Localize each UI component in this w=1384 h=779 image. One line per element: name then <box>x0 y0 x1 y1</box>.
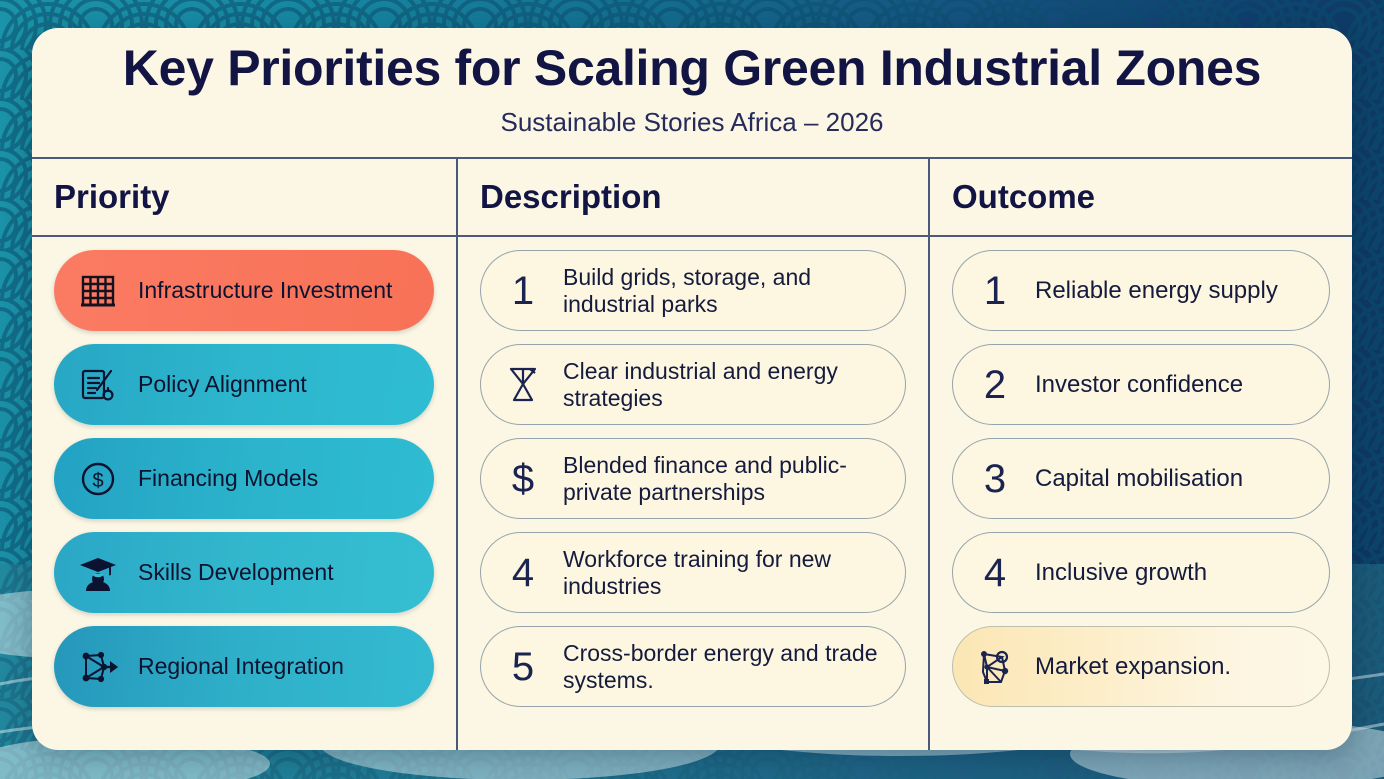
description-marker: 1 <box>497 271 549 311</box>
outcome-item-2[interactable]: 2 Investor confidence <box>952 344 1330 425</box>
outcome-item-5[interactable]: Market expansion. <box>952 626 1330 707</box>
priority-pill-financing-models[interactable]: $ Financing Models <box>54 438 434 519</box>
dollar-glyph-icon: $ <box>497 456 549 502</box>
graduate-icon <box>72 547 124 599</box>
priority-pill-skills-development[interactable]: Skills Development <box>54 532 434 613</box>
outcome-list: 1 Reliable energy supply 2 Investor conf… <box>930 237 1352 750</box>
outcome-marker: 1 <box>969 271 1021 311</box>
column-title-priority: Priority <box>32 159 456 235</box>
outcome-text: Investor confidence <box>1035 371 1243 398</box>
column-description: 1 Build grids, storage, and industrial p… <box>458 237 928 750</box>
column-outcome: 1 Reliable energy supply 2 Investor conf… <box>930 237 1352 750</box>
description-marker: 4 <box>497 553 549 593</box>
outcome-text: Inclusive growth <box>1035 559 1207 586</box>
description-text: Blended finance and public-private partn… <box>563 452 889 504</box>
page-subtitle: Sustainable Stories Africa – 2026 <box>32 107 1352 138</box>
priority-label: Skills Development <box>138 560 334 586</box>
description-list: 1 Build grids, storage, and industrial p… <box>458 237 928 750</box>
outcome-item-4[interactable]: 4 Inclusive growth <box>952 532 1330 613</box>
description-text: Workforce training for new industries <box>563 546 889 598</box>
card-header: Key Priorities for Scaling Green Industr… <box>32 28 1352 157</box>
hourglass-glyph-icon <box>497 364 549 406</box>
description-text: Build grids, storage, and industrial par… <box>563 264 889 316</box>
network-arrow-icon <box>72 641 124 693</box>
description-item-1[interactable]: 1 Build grids, storage, and industrial p… <box>480 250 906 331</box>
dollar-coin-icon: $ <box>72 453 124 505</box>
description-text: Cross-border energy and trade systems. <box>563 640 889 692</box>
network-glyph-icon <box>969 645 1021 689</box>
outcome-text: Market expansion. <box>1035 653 1231 680</box>
column-header-outcome: Outcome <box>930 159 1352 235</box>
grid-building-icon <box>72 265 124 317</box>
description-marker: 5 <box>497 647 549 687</box>
priority-pill-infrastructure-investment[interactable]: Infrastructure Investment <box>54 250 434 331</box>
column-priority: Infrastructure Investment <box>32 237 456 750</box>
priority-label: Financing Models <box>138 466 318 492</box>
description-item-4[interactable]: 4 Workforce training for new industries <box>480 532 906 613</box>
outcome-text: Reliable energy supply <box>1035 277 1278 304</box>
description-text: Clear industrial and energy strategies <box>563 358 889 410</box>
svg-text:$: $ <box>512 457 534 501</box>
outcome-item-1[interactable]: 1 Reliable energy supply <box>952 250 1330 331</box>
priority-pill-policy-alignment[interactable]: Policy Alignment <box>54 344 434 425</box>
table-body: Infrastructure Investment <box>32 237 1352 750</box>
column-header-priority: Priority <box>32 159 456 235</box>
description-item-2[interactable]: Clear industrial and energy strategies <box>480 344 906 425</box>
infographic-stage: Key Priorities for Scaling Green Industr… <box>0 0 1384 779</box>
outcome-text: Capital mobilisation <box>1035 465 1243 492</box>
outcome-marker: 3 <box>969 459 1021 499</box>
outcome-marker: 2 <box>969 365 1021 405</box>
priority-list: Infrastructure Investment <box>32 237 456 750</box>
clipboard-pen-icon <box>72 359 124 411</box>
priority-label: Policy Alignment <box>138 372 307 398</box>
priority-label: Infrastructure Investment <box>138 278 392 304</box>
description-item-3[interactable]: $ Blended finance and public-private par… <box>480 438 906 519</box>
column-header-description: Description <box>458 159 928 235</box>
column-title-description: Description <box>458 159 928 235</box>
column-header-row: Priority Description Outcome <box>32 159 1352 235</box>
outcome-item-3[interactable]: 3 Capital mobilisation <box>952 438 1330 519</box>
priority-pill-regional-integration[interactable]: Regional Integration <box>54 626 434 707</box>
infographic-card: Key Priorities for Scaling Green Industr… <box>32 28 1352 750</box>
priority-label: Regional Integration <box>138 654 344 680</box>
column-title-outcome: Outcome <box>930 159 1352 235</box>
svg-text:$: $ <box>92 470 103 492</box>
description-item-5[interactable]: 5 Cross-border energy and trade systems. <box>480 626 906 707</box>
page-title: Key Priorities for Scaling Green Industr… <box>32 39 1352 97</box>
outcome-marker: 4 <box>969 553 1021 593</box>
